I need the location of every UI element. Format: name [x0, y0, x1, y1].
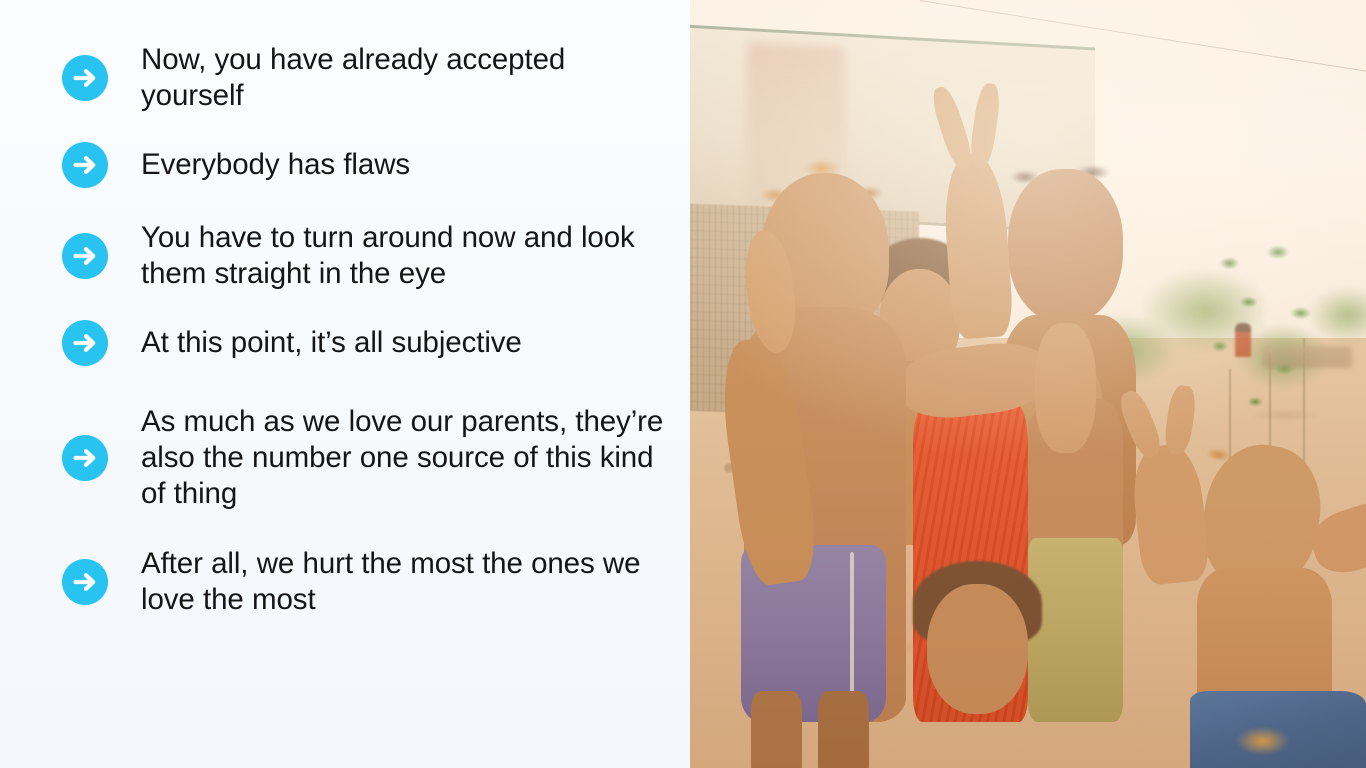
arrow-circle-shape [62, 55, 108, 101]
arrow-right-circle-icon [62, 55, 108, 101]
arrow-right-circle-icon [62, 233, 108, 279]
list-item: As much as we love our parents, they’re … [62, 404, 672, 512]
arrow-circle-shape [62, 435, 108, 481]
background-person [1235, 323, 1251, 357]
arrow-right-circle-icon [62, 142, 108, 188]
list-item-label: You have to turn around now and look the… [141, 220, 666, 292]
slide-root: Now, you have already accepted yourself … [0, 0, 1366, 768]
girl-head [927, 584, 1028, 715]
right-boy-jeans [1190, 691, 1366, 768]
arrow-circle-shape [62, 142, 108, 188]
bullet-content-pane: Now, you have already accepted yourself … [0, 0, 690, 768]
bullet-list: Now, you have already accepted yourself … [62, 42, 672, 618]
list-item: Now, you have already accepted yourself [62, 42, 672, 114]
child-peace-boy-head [1008, 169, 1123, 323]
arrow-right-circle-icon [62, 435, 108, 481]
list-item: At this point, it’s all subjective [62, 320, 672, 366]
list-item-label: At this point, it’s all subjective [141, 325, 666, 361]
list-item: You have to turn around now and look the… [62, 220, 672, 292]
list-item-label: As much as we love our parents, they’re … [141, 404, 666, 512]
arrow-right-circle-icon [62, 559, 108, 605]
arrow-circle-shape [62, 320, 108, 366]
children-thumbs-up-peace-sign-photo [690, 0, 1366, 768]
front-boy-leg [818, 691, 869, 768]
list-item-label: Now, you have already accepted yourself [141, 42, 666, 114]
list-item: After all, we hurt the most the ones we … [62, 546, 672, 618]
girl-thumbs-up-hand [1035, 323, 1096, 454]
front-boy-leg [751, 691, 802, 768]
photo-canvas [690, 0, 1366, 768]
list-item: Everybody has flaws [62, 142, 672, 188]
background-debris [1262, 346, 1352, 368]
arrow-circle-shape [62, 233, 108, 279]
list-item-label: Everybody has flaws [141, 147, 666, 183]
arrow-circle-shape [62, 559, 108, 605]
arrow-right-circle-icon [62, 320, 108, 366]
child-khaki-shorts [1028, 538, 1123, 722]
list-item-label: After all, we hurt the most the ones we … [141, 546, 666, 618]
